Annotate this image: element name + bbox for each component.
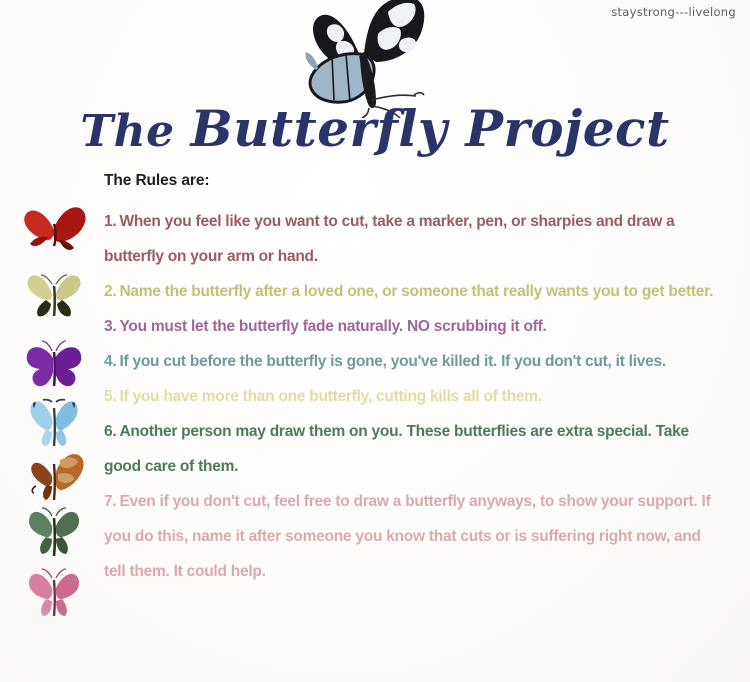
- watermark-text: staystrong---livelong: [611, 5, 736, 19]
- rule-number-1: 1.: [104, 213, 116, 230]
- rule-text-6: Another person may draw them on you. The…: [104, 423, 689, 475]
- rule-text-1: When you feel like you want to cut, take…: [104, 213, 674, 265]
- rule-item-6: 6.Another person may draw them on you. T…: [104, 414, 724, 484]
- rule-item-3: 3.You must let the butterfly fade natura…: [104, 309, 724, 344]
- rule-text-5: If you have more than one butterfly, cut…: [119, 388, 541, 405]
- pink-butterfly-icon: [16, 564, 92, 622]
- rule-number-6: 6.: [104, 423, 116, 440]
- rule-text-4: If you cut before the butterfly is gone,…: [119, 353, 666, 370]
- rule-number-5: 5.: [104, 388, 116, 405]
- rule-item-7: 7.Even if you don't cut, feel free to dr…: [104, 484, 724, 589]
- rule-item-5: 5.If you have more than one butterfly, c…: [104, 379, 724, 414]
- rule-number-3: 3.: [104, 318, 116, 335]
- rule-text-2: Name the butterfly after a loved one, or…: [119, 283, 713, 300]
- red-butterfly-icon: [16, 200, 92, 258]
- pale-green-butterfly-icon: [16, 268, 92, 326]
- dark-green-butterfly-icon: [16, 504, 92, 562]
- rule-number-2: 2.: [104, 283, 116, 300]
- rule-number-7: 7.: [104, 493, 116, 510]
- rule-number-4: 4.: [104, 353, 116, 370]
- rule-text-3: You must let the butterfly fade naturall…: [119, 318, 546, 335]
- blue-butterfly-icon: [16, 394, 92, 452]
- page-title: The Butterfly Project: [0, 104, 750, 157]
- title-word-butterfly: Butterfly: [190, 99, 465, 158]
- poster-canvas: staystrong---livelong: [0, 0, 750, 682]
- rule-item-1: 1.When you feel like you want to cut, ta…: [104, 204, 724, 274]
- rule-item-2: 2.Name the butterfly after a loved one, …: [104, 274, 724, 309]
- orange-monarch-butterfly-icon: [16, 448, 92, 506]
- butterfly-icon-column: [16, 196, 100, 636]
- rule-item-4: 4.If you cut before the butterfly is gon…: [104, 344, 724, 379]
- title-word-project: Project: [465, 99, 669, 158]
- purple-butterfly-icon: [16, 338, 92, 396]
- rules-heading: The Rules are:: [104, 172, 209, 190]
- rule-text-7: Even if you don't cut, feel free to draw…: [104, 493, 711, 580]
- title-word-the: The: [80, 106, 190, 157]
- rules-list: 1.When you feel like you want to cut, ta…: [104, 204, 724, 589]
